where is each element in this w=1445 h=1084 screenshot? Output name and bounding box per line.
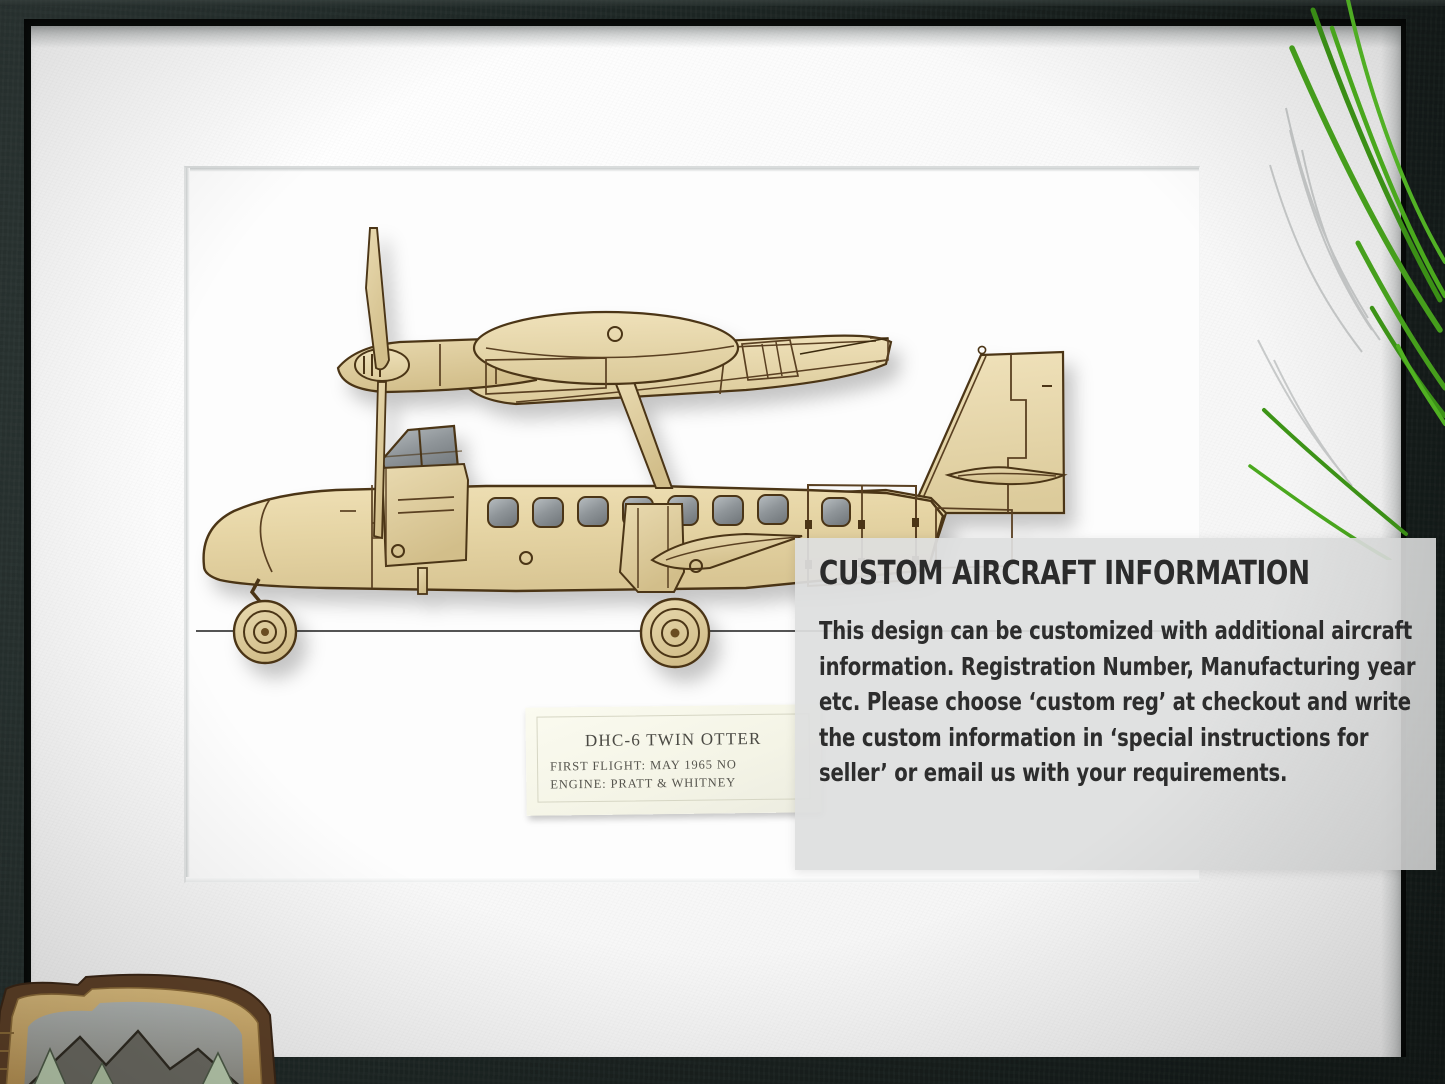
plaque-title: DHC-6 TWIN OTTER: [526, 728, 821, 752]
custom-aircraft-information-overlay: CUSTOM AIRCRAFT INFORMATION This design …: [795, 538, 1436, 870]
mat-top-shadow: [31, 26, 1401, 48]
main-landing-gear: [641, 599, 709, 667]
overlay-body-text: This design can be customized with addit…: [819, 613, 1439, 791]
boarding-step: [418, 568, 427, 594]
vertical-stabilizer: [911, 346, 1064, 513]
overlay-title: CUSTOM AIRCRAFT INFORMATION: [819, 556, 1303, 589]
plaque-engine: ENGINE: PRATT & WHITNEY: [550, 774, 813, 792]
frame-top-highlight: [0, 0, 1445, 6]
screenshot-root: DHC-6 TWIN OTTER FIRST FLIGHT: MAY 1965 …: [0, 0, 1445, 1084]
cockpit-door: [382, 464, 468, 566]
plaque-first-flight: FIRST FLIGHT: MAY 1965 NO: [550, 756, 813, 774]
ornament-svg: [0, 965, 318, 1084]
wing-strut: [616, 382, 672, 488]
aircraft-info-plaque: DHC-6 TWIN OTTER FIRST FLIGHT: MAY 1965 …: [525, 704, 821, 816]
wooden-mountain-ornament: [0, 965, 318, 1084]
nose-landing-gear: [234, 579, 296, 663]
